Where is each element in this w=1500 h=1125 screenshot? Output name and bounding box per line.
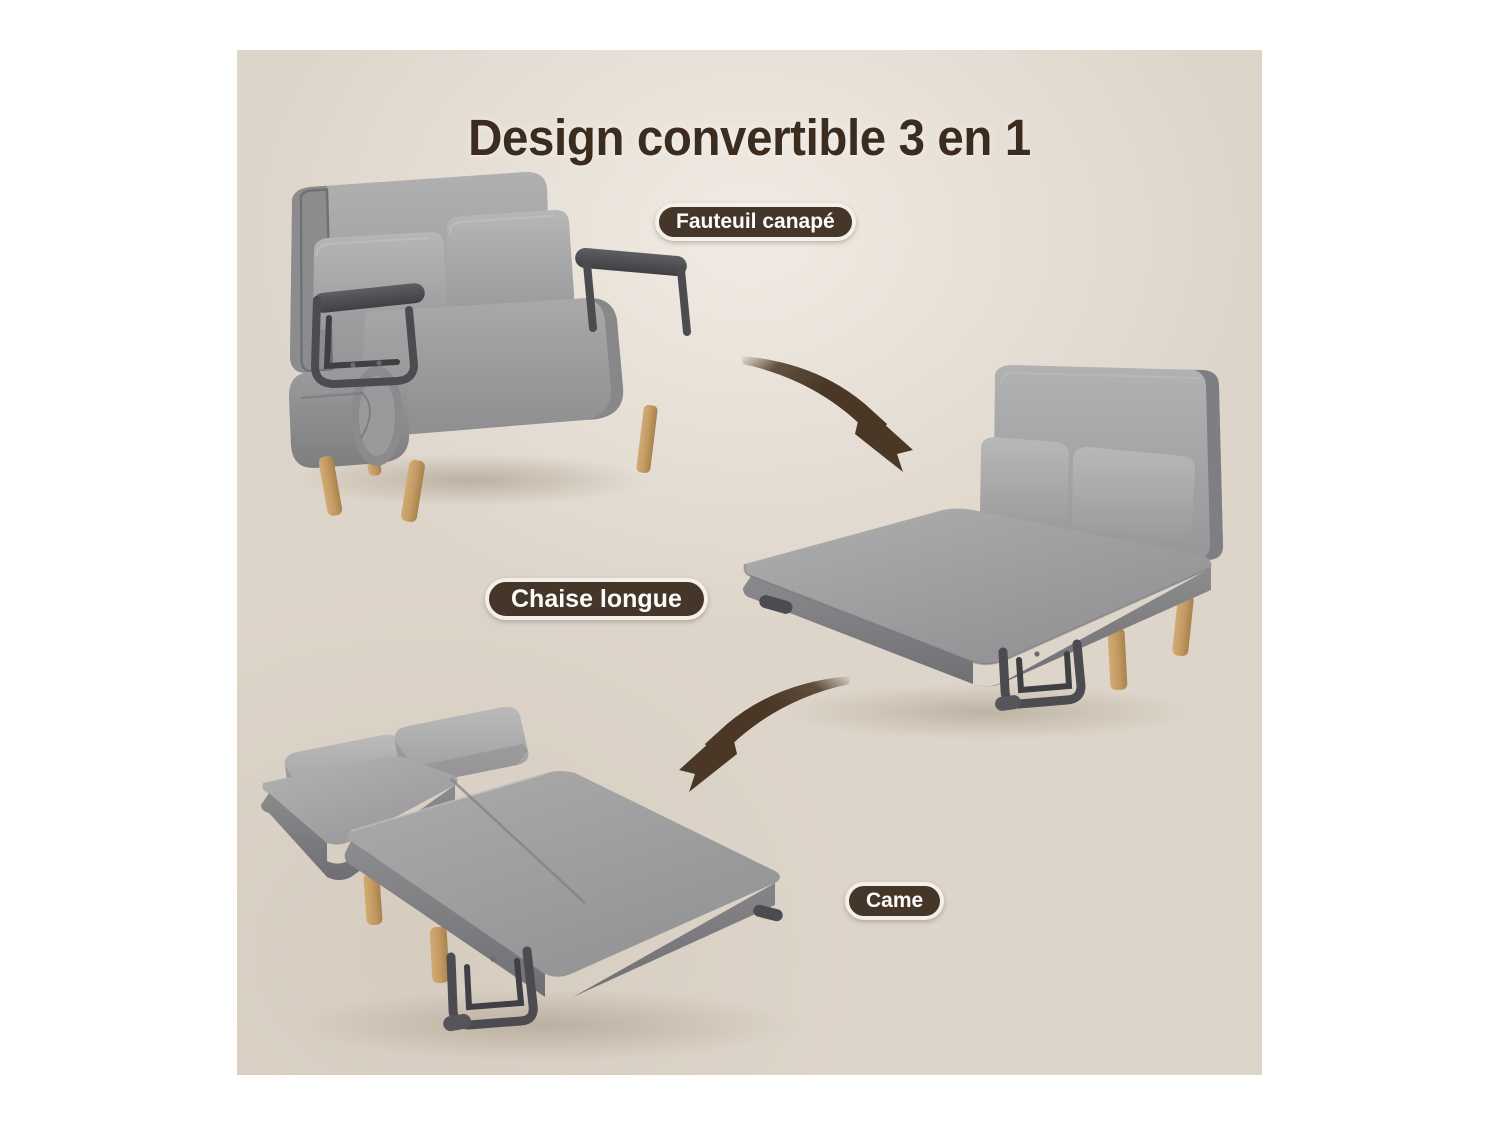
chaise-leg-wood-front bbox=[1107, 628, 1127, 691]
product-image-bed-mode bbox=[255, 695, 815, 1095]
page-title: Design convertible 3 en 1 bbox=[273, 112, 1226, 163]
badge-chaise-longue[interactable]: Chaise longue bbox=[485, 578, 708, 620]
sofa-pillow-right bbox=[446, 210, 574, 314]
content-panel: Design convertible 3 en 1 bbox=[237, 50, 1262, 1075]
chaise-pillow-right bbox=[1072, 447, 1195, 539]
badge-fauteuil-canape[interactable]: Fauteuil canapé bbox=[655, 203, 856, 241]
product-image-chaise-mode bbox=[737, 360, 1237, 750]
bed-leg-wood-front bbox=[430, 927, 450, 984]
badge-came[interactable]: Came bbox=[845, 882, 944, 920]
bed-floor-shadow bbox=[295, 989, 795, 1061]
chaise-floor-shadow bbox=[782, 684, 1192, 740]
product-image-sofa-mode bbox=[257, 160, 697, 510]
infographic-canvas: Design convertible 3 en 1 bbox=[0, 0, 1500, 1125]
sofa-leg-right bbox=[636, 404, 658, 473]
sofa-armrest-right bbox=[574, 247, 687, 332]
chaise-metal-support-leg bbox=[994, 644, 1081, 712]
